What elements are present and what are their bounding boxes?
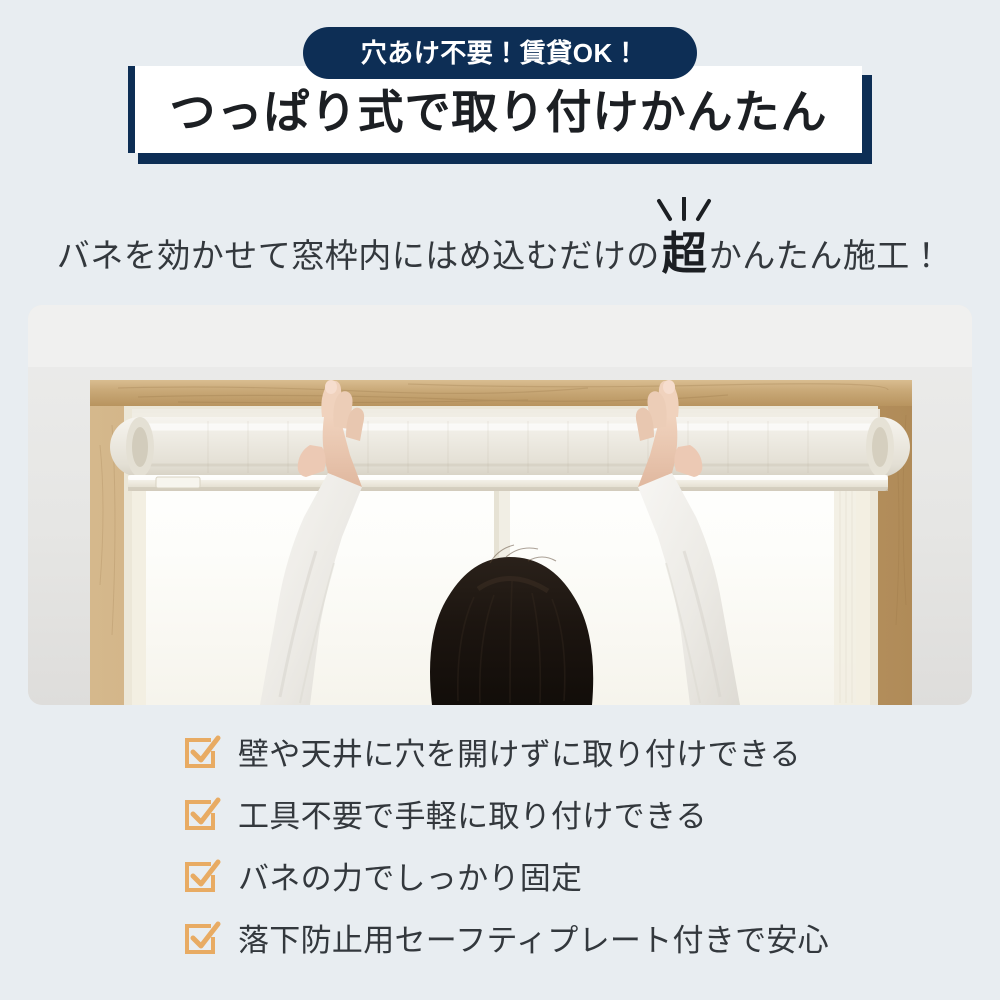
- page-title: つっぱり式で取り付けかんたん: [170, 85, 828, 135]
- status-badge: 穴あけ不要！賃貸OK！: [303, 27, 697, 79]
- header-block: つっぱり式で取り付けかんたん 穴あけ不要！賃貸OK！: [0, 0, 1000, 175]
- title-box: つっぱり式で取り付けかんたん: [128, 66, 862, 153]
- checkbox-checked-icon: [183, 919, 221, 957]
- list-item: バネの力でしっかり固定: [0, 846, 1000, 908]
- subtitle-tail: かんたん施工！: [709, 239, 944, 276]
- subtitle: バネを効かせて窓枠内にはめ込むだけの超かんたん施工！: [0, 196, 1000, 276]
- status-badge-label: 穴あけ不要！賃貸OK！: [361, 40, 640, 66]
- list-item: 壁や天井に穴を開けずに取り付けできる: [0, 722, 1000, 784]
- list-item-label: バネの力でしっかり固定: [238, 860, 582, 894]
- list-item: 工具不要で手軽に取り付けできる: [0, 784, 1000, 846]
- checkbox-checked-icon: [183, 795, 221, 833]
- sparkle-lines-icon: [653, 197, 715, 227]
- feature-list: 壁や天井に穴を開けずに取り付けできる 工具不要で手軽に取り付けできる バネの力で…: [0, 722, 1000, 970]
- checkbox-checked-icon: [183, 733, 221, 771]
- list-item: 落下防止用セーフティプレート付きで安心: [0, 908, 1000, 970]
- list-item-label: 壁や天井に穴を開けずに取り付けできる: [238, 736, 801, 770]
- subtitle-emphasis: 超: [660, 231, 709, 276]
- subtitle-lead: バネを効かせて窓枠内にはめ込むだけの: [57, 239, 660, 276]
- checkbox-checked-icon: [183, 857, 221, 895]
- product-install-photo: [28, 305, 972, 705]
- list-item-label: 工具不要で手軽に取り付けできる: [238, 798, 707, 832]
- list-item-label: 落下防止用セーフティプレート付きで安心: [238, 922, 829, 956]
- subtitle-emphasis-wrap: 超: [660, 231, 709, 276]
- promo-page: つっぱり式で取り付けかんたん 穴あけ不要！賃貸OK！ バネを効かせて窓枠内にはめ…: [0, 0, 1000, 1000]
